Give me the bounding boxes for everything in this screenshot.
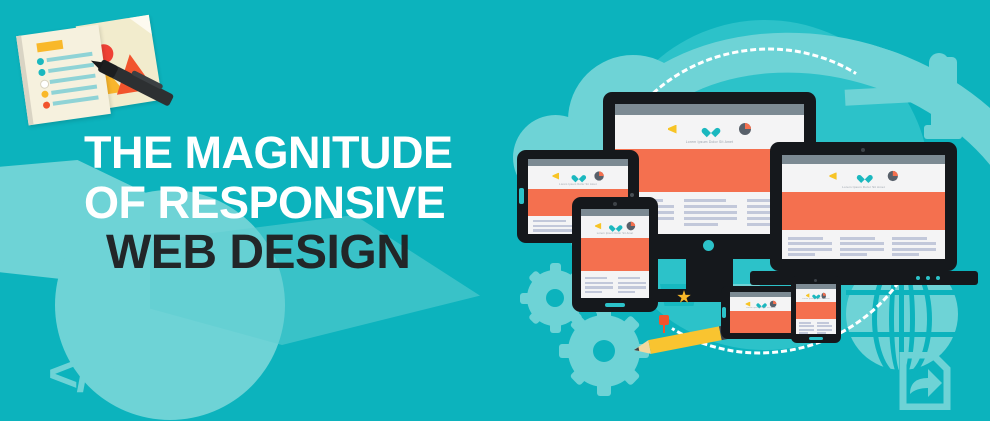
heart-icon	[611, 222, 620, 230]
pie-chart-icon	[626, 222, 635, 231]
megaphone-icon	[552, 172, 563, 179]
smartphone-portrait: Lorem Ipsum Dolor Sit Amet	[791, 276, 841, 343]
megaphone-icon	[829, 172, 841, 180]
laptop-indicator-dot	[936, 276, 940, 280]
heart-icon	[859, 171, 869, 180]
tablet-camera	[613, 202, 617, 206]
laptop-indicator-dot	[916, 276, 920, 280]
tablet-home-button	[605, 303, 625, 307]
phone-camera	[814, 279, 817, 282]
megaphone-icon	[668, 125, 682, 134]
headline-line-1: THE MAGNITUDE	[84, 128, 453, 178]
code-brackets-icon: </>	[48, 348, 117, 400]
device-caption: Lorem Ipsum Dolor Sit Amet	[796, 298, 836, 300]
phone-home-button	[809, 337, 823, 340]
headline-line-3: WEB DESIGN	[84, 228, 453, 278]
gear-icon	[568, 315, 640, 387]
responsive-web-design-banner: </>	[0, 0, 990, 421]
pie-chart-icon	[594, 171, 603, 180]
pie-chart-icon	[739, 123, 751, 135]
page-title: THE MAGNITUDE OF RESPONSIVE WEB DESIGN	[84, 128, 453, 278]
heart-icon	[574, 172, 583, 181]
laptop: Lorem Ipsum Dolor Sit Amet	[770, 142, 957, 271]
device-caption: Lorem Ipsum Dolor Sit Amet	[782, 185, 945, 189]
laptop-camera	[861, 148, 865, 152]
pushpin-icon	[659, 315, 671, 333]
headline-line-2: OF RESPONSIVE	[84, 178, 453, 228]
file-share-icon	[898, 352, 952, 410]
laptop-indicator-dot	[926, 276, 930, 280]
device-caption: Lorem Ipsum Dolor Sit Amet	[581, 232, 649, 235]
heart-icon	[705, 124, 717, 135]
tablet-portrait: Lorem Ipsum Dolor Sit Amet	[572, 197, 658, 312]
device-caption: Lorem Ipsum Dolor Sit Amet	[528, 183, 628, 186]
tablet-side-button	[722, 307, 726, 318]
documents-and-pen-illustration	[14, 18, 184, 130]
mini-tablet-landscape: Lorem Ipsum Dolor Sit Amet	[721, 286, 801, 339]
megaphone-icon	[595, 223, 605, 229]
megaphone-icon	[745, 302, 753, 307]
pie-chart-icon	[887, 171, 897, 181]
tablet-side-button	[519, 188, 524, 204]
device-caption: Lorem Ipsum Dolor Sit Amet	[730, 307, 792, 309]
laptop-base	[750, 271, 978, 285]
